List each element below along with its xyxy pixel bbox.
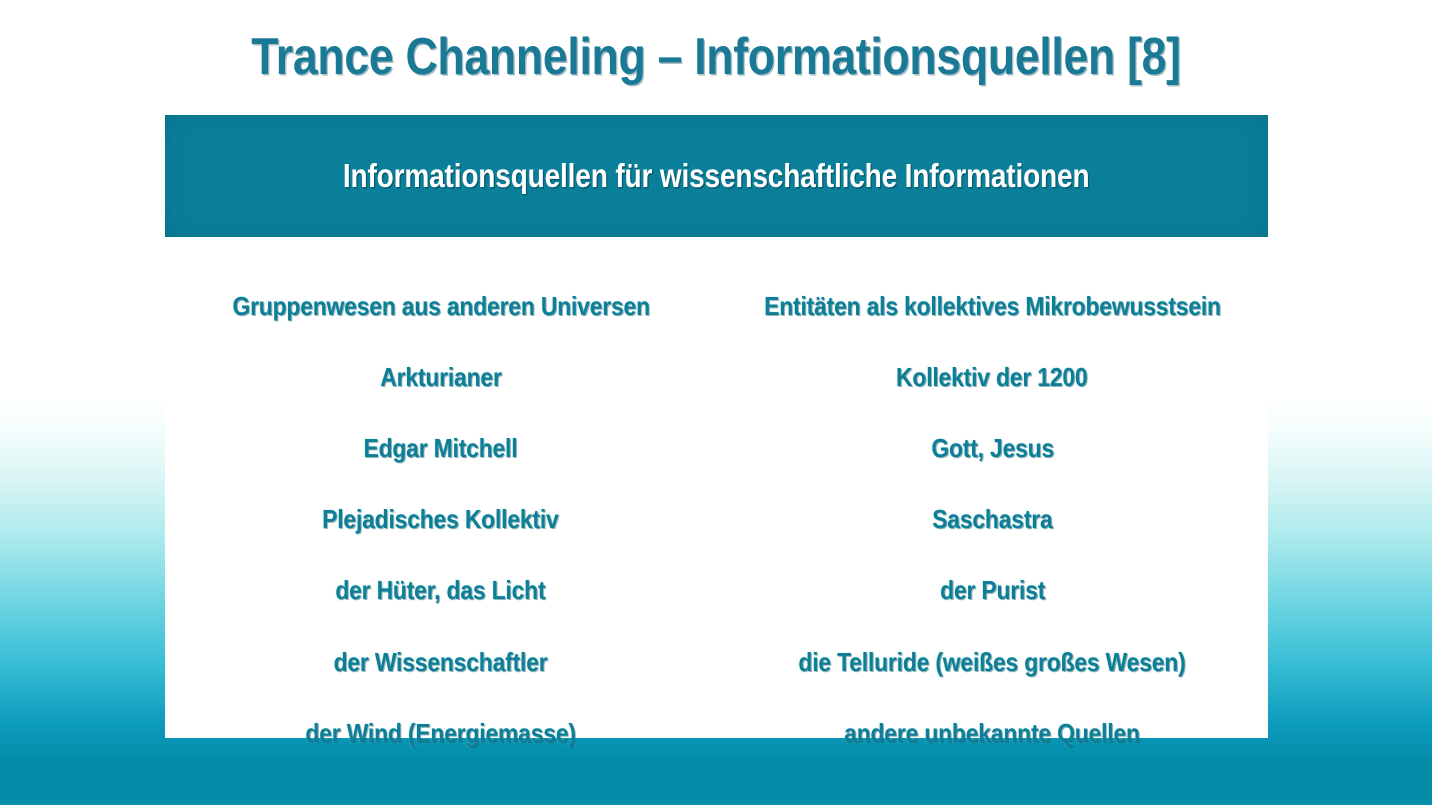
source-label: andere unbekannte Quellen: [844, 718, 1140, 748]
source-cell-left: Edgar Mitchell: [165, 412, 717, 483]
source-label: Entitäten als kollektives Mikrobewusstse…: [764, 291, 1221, 321]
source-label: Gruppenwesen aus anderen Universen: [232, 291, 649, 321]
source-cell-right: der Purist: [717, 555, 1269, 626]
source-label: der Hüter, das Licht: [336, 575, 546, 605]
source-cell-left: der Hüter, das Licht: [165, 555, 717, 626]
source-cell-left: der Wissenschaftler: [165, 626, 717, 697]
presentation-slide: Trance Channeling – Informationsquellen …: [0, 0, 1432, 805]
source-cell-right: Kollektiv der 1200: [717, 341, 1269, 412]
section-header-band: Informationsquellen für wissenschaftlich…: [165, 115, 1268, 237]
column-heading-left: Gruppenwesen aus anderen Universen: [165, 270, 717, 341]
source-cell-right: die Telluride (weißes großes Wesen): [717, 626, 1269, 697]
source-cell-left: Arkturianer: [165, 341, 717, 412]
section-header-title: Informationsquellen für wissenschaftlich…: [343, 156, 1090, 196]
information-sources-grid: Gruppenwesen aus anderen Universen Entit…: [165, 237, 1268, 738]
source-label: der Wissenschaftler: [334, 647, 548, 677]
source-label: Kollektiv der 1200: [897, 362, 1088, 392]
source-cell-right: andere unbekannte Quellen: [717, 697, 1269, 768]
slide-title: Trance Channeling – Informationsquellen …: [100, 20, 1332, 94]
source-cell-left: Plejadisches Kollektiv: [165, 484, 717, 555]
source-cell-left: der Wind (Energiemasse): [165, 697, 717, 768]
source-label: die Telluride (weißes großes Wesen): [799, 647, 1186, 677]
source-label: Gott, Jesus: [931, 433, 1054, 463]
content-card: Informationsquellen für wissenschaftlich…: [165, 115, 1268, 738]
source-label: Edgar Mitchell: [364, 433, 518, 463]
source-label: Arkturianer: [380, 362, 501, 392]
source-cell-right: Gott, Jesus: [717, 412, 1269, 483]
source-label: der Wind (Energiemasse): [306, 718, 576, 748]
source-label: Saschastra: [932, 504, 1052, 534]
source-cell-right: Saschastra: [717, 484, 1269, 555]
column-heading-right: Entitäten als kollektives Mikrobewusstse…: [717, 270, 1269, 341]
source-label: der Purist: [940, 575, 1045, 605]
source-label: Plejadisches Kollektiv: [322, 504, 558, 534]
